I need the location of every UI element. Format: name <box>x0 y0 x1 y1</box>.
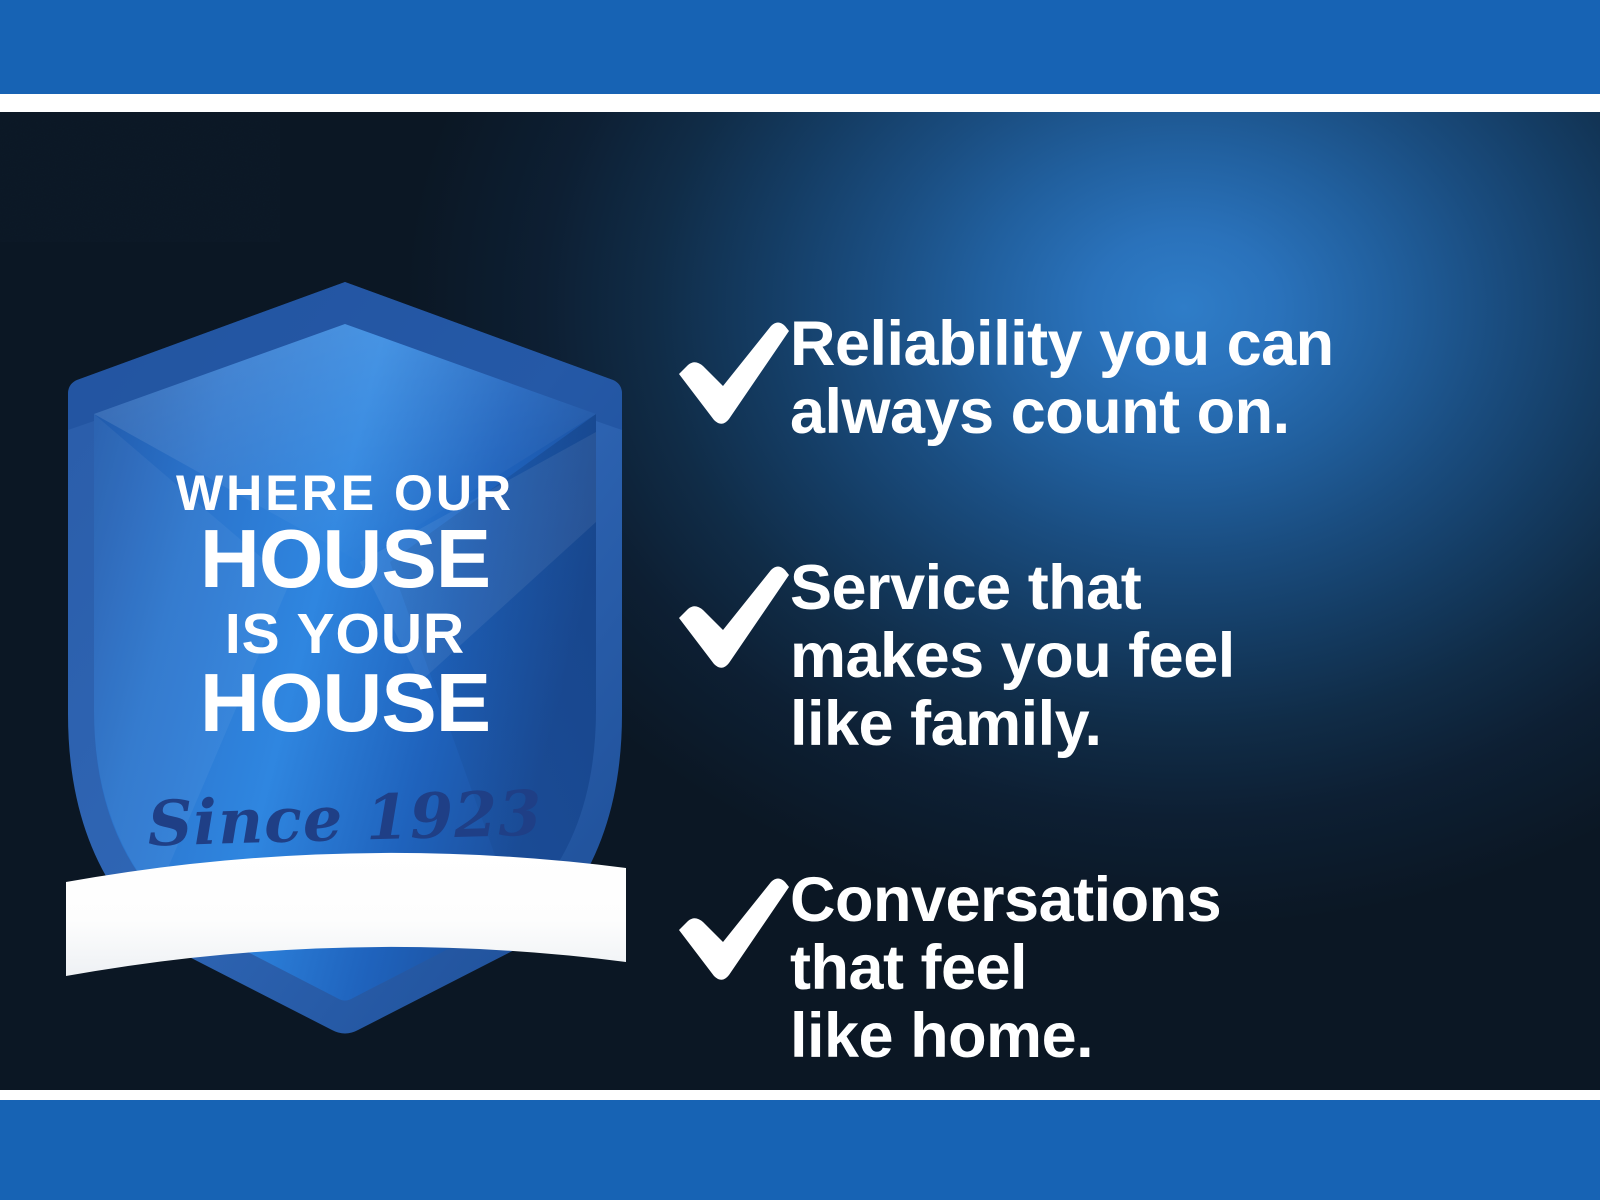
list-item: Reliability you can always count on. <box>672 308 1502 446</box>
top-brand-band <box>0 0 1600 94</box>
bottom-brand-band <box>0 1100 1600 1200</box>
badge-line-is-your: Is Your <box>60 607 630 661</box>
top-white-stripe <box>0 94 1600 112</box>
checkmark-icon <box>672 566 790 670</box>
list-item: Service that makes you feel like family. <box>672 552 1502 758</box>
badge-line-where-our: Where Our <box>60 470 630 518</box>
list-item: Conversations that feel like home. <box>672 864 1502 1070</box>
list-item-label: Service that makes you feel like family. <box>790 554 1235 758</box>
bottom-white-stripe <box>0 1090 1600 1100</box>
list-item-label: Conversations that feel like home. <box>790 866 1221 1070</box>
checkmark-icon <box>672 322 790 426</box>
benefits-list: Reliability you can always count on. Ser… <box>672 308 1502 1070</box>
promotional-graphic: Where Our House Is Your House Since 1923… <box>0 0 1600 1200</box>
badge-line-house-2: House <box>60 664 630 743</box>
shield-badge: Where Our House Is Your House Since 1923 <box>60 262 630 1052</box>
main-canvas: Where Our House Is Your House Since 1923… <box>0 112 1600 1090</box>
badge-line-house-1: House <box>60 520 630 599</box>
list-item-label: Reliability you can always count on. <box>790 310 1334 446</box>
checkmark-icon <box>672 878 790 982</box>
